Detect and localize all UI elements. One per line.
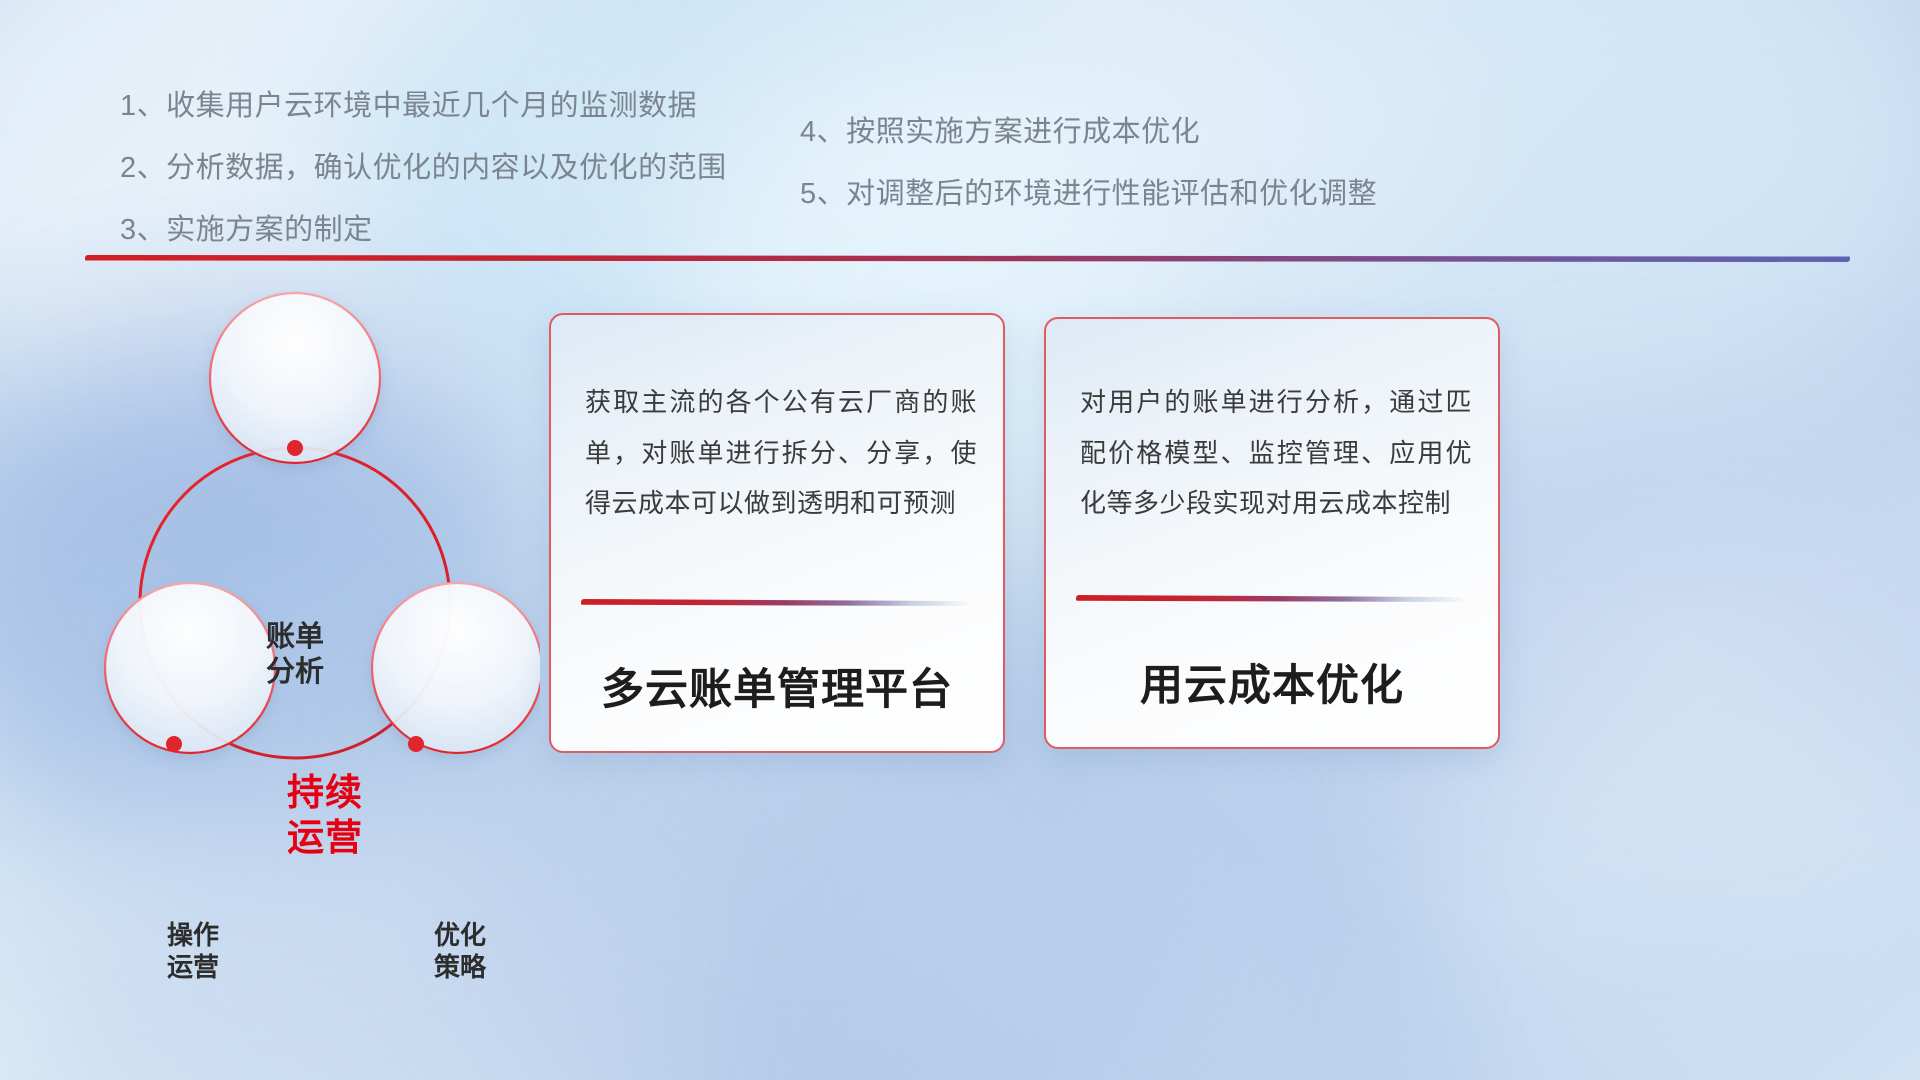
divider-bar: [85, 255, 1850, 262]
list-item: 3、实施方案的制定: [120, 216, 727, 245]
venn-node-dot-top: [287, 440, 303, 456]
list-item: 4、按照实施方案进行成本优化: [800, 118, 1377, 147]
section-divider: [85, 255, 1850, 262]
card-accent-rule-bar: [1076, 595, 1468, 602]
venn-diagram: 账单 分析 持续 运营 操作 运营 优化 策略: [70, 290, 540, 790]
venn-circle-bottom-right: [372, 583, 540, 753]
list-item: 2、分析数据，确认优化的内容以及优化的范围: [120, 154, 727, 183]
card-accent-rule: [581, 599, 973, 606]
venn-label-top: 账单 分析: [225, 620, 365, 691]
card-title: 多云账单管理平台: [551, 655, 1003, 717]
card-accent-rule: [1076, 595, 1468, 602]
process-step-list-right-column: 4、按照实施方案进行成本优化 5、对调整后的环境进行性能评估和优化调整: [800, 118, 1377, 242]
feature-card-cloud-cost-optimization[interactable]: 对用户的账单进行分析，通过匹配价格模型、监控管理、应用优化等多少段实现对用云成本…: [1044, 317, 1500, 749]
card-title: 用云成本优化: [1046, 651, 1498, 713]
feature-card-multi-cloud-bill-platform[interactable]: 获取主流的各个公有云厂商的账单，对账单进行拆分、分享，使得云成本可以做到透明和可…: [549, 313, 1005, 753]
venn-label-bottom-left: 操作 运营: [128, 920, 258, 983]
card-accent-rule-bar: [581, 599, 973, 606]
venn-node-dot-bottom-right: [408, 736, 424, 752]
venn-diagram-svg: [70, 290, 540, 790]
list-item: 5、对调整后的环境进行性能评估和优化调整: [800, 180, 1377, 209]
list-item: 1、收集用户云环境中最近几个月的监测数据: [120, 92, 727, 121]
venn-node-dot-bottom-left: [166, 736, 182, 752]
venn-label-center: 持续 运营: [245, 770, 405, 860]
process-step-list: 1、收集用户云环境中最近几个月的监测数据 2、分析数据，确认优化的内容以及优化的…: [0, 0, 1920, 250]
venn-circle-top: [210, 293, 380, 463]
card-body-text: 获取主流的各个公有云厂商的账单，对账单进行拆分、分享，使得云成本可以做到透明和可…: [585, 377, 977, 529]
process-step-list-left-column: 1、收集用户云环境中最近几个月的监测数据 2、分析数据，确认优化的内容以及优化的…: [120, 92, 727, 278]
card-body-text: 对用户的账单进行分析，通过匹配价格模型、监控管理、应用优化等多少段实现对用云成本…: [1080, 377, 1472, 529]
venn-label-bottom-right: 优化 策略: [395, 920, 525, 983]
